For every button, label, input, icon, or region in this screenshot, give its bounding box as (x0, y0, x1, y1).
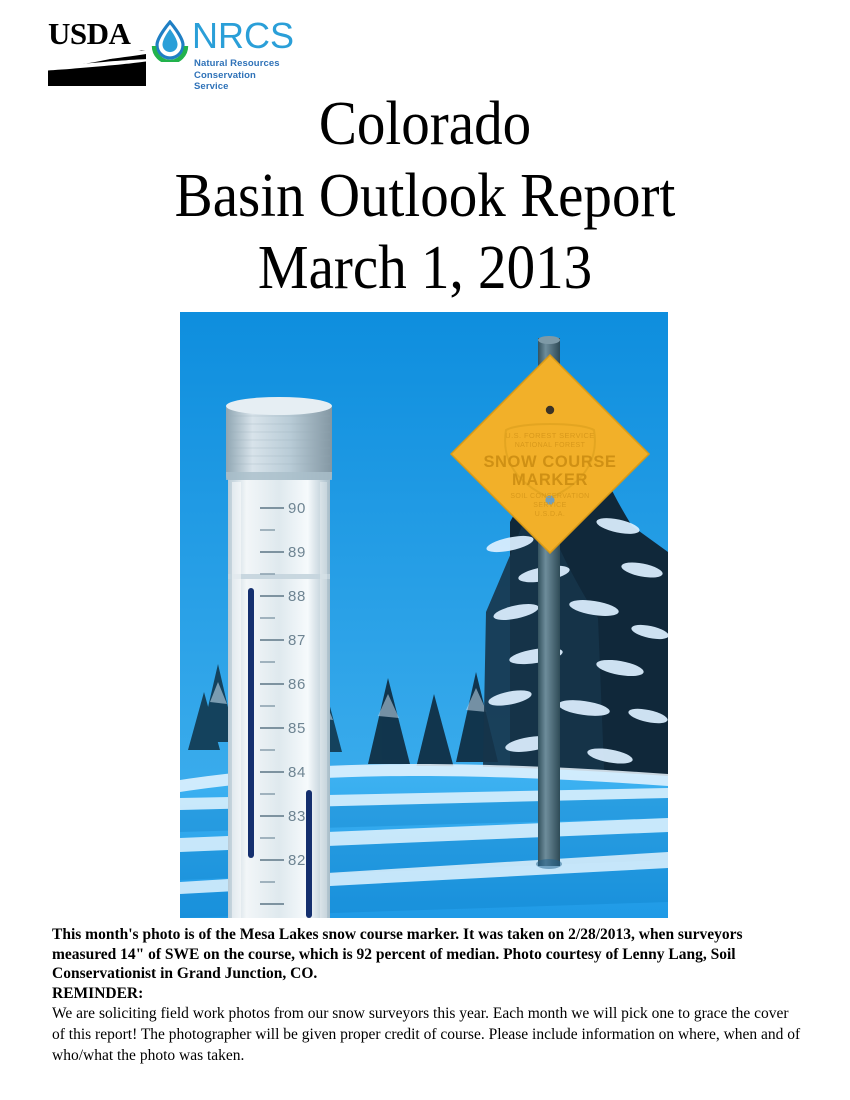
report-title: Colorado Basin Outlook Report March 1, 2… (0, 88, 850, 304)
title-line-date: March 1, 2013 (34, 232, 816, 304)
svg-text:87: 87 (288, 632, 306, 649)
title-line-state: Colorado (34, 88, 816, 160)
title-line-report: Basin Outlook Report (34, 160, 816, 232)
svg-text:84: 84 (288, 764, 306, 781)
nrcs-logo: NRCS Natural Resources Conservation Serv… (150, 14, 290, 88)
usda-logo: USDA (48, 18, 146, 86)
svg-text:NATIONAL FOREST: NATIONAL FOREST (515, 442, 586, 449)
svg-text:U.S. FOREST SERVICE: U.S. FOREST SERVICE (505, 431, 594, 440)
svg-text:83: 83 (288, 808, 306, 825)
reminder-heading: REMINDER: (52, 984, 804, 1004)
nrcs-wordmark: NRCS (192, 16, 294, 56)
nrcs-subtitle-line1: Natural Resources (194, 58, 290, 70)
svg-text:90: 90 (288, 500, 306, 517)
svg-text:85: 85 (288, 720, 306, 737)
svg-text:SNOW COURSE: SNOW COURSE (483, 453, 616, 471)
cover-photo-illustration: U.S. FOREST SERVICE NATIONAL FOREST SNOW… (180, 312, 668, 918)
photo-caption-block: This month's photo is of the Mesa Lakes … (52, 925, 804, 1066)
cover-photo: U.S. FOREST SERVICE NATIONAL FOREST SNOW… (180, 312, 668, 918)
svg-text:U.S.D.A.: U.S.D.A. (535, 511, 565, 518)
svg-text:MARKER: MARKER (512, 471, 588, 489)
snow-depth-measuring-tube: 90 89 88 87 86 85 84 83 82 (226, 397, 332, 918)
svg-text:SOIL CONSERVATION: SOIL CONSERVATION (510, 493, 589, 500)
usda-wordmark: USDA (48, 18, 146, 50)
svg-text:88: 88 (288, 588, 306, 605)
photo-caption: This month's photo is of the Mesa Lakes … (52, 925, 804, 984)
usda-landscape-icon (48, 50, 146, 86)
reminder-body: We are soliciting field work photos from… (52, 1003, 804, 1066)
header-logo-band: USDA NRCS Natural Resources Conservation… (0, 0, 850, 92)
svg-text:89: 89 (288, 544, 306, 561)
svg-text:SERVICE: SERVICE (533, 502, 566, 509)
svg-text:82: 82 (288, 852, 306, 869)
svg-text:86: 86 (288, 676, 306, 693)
water-droplet-icon (150, 20, 190, 62)
